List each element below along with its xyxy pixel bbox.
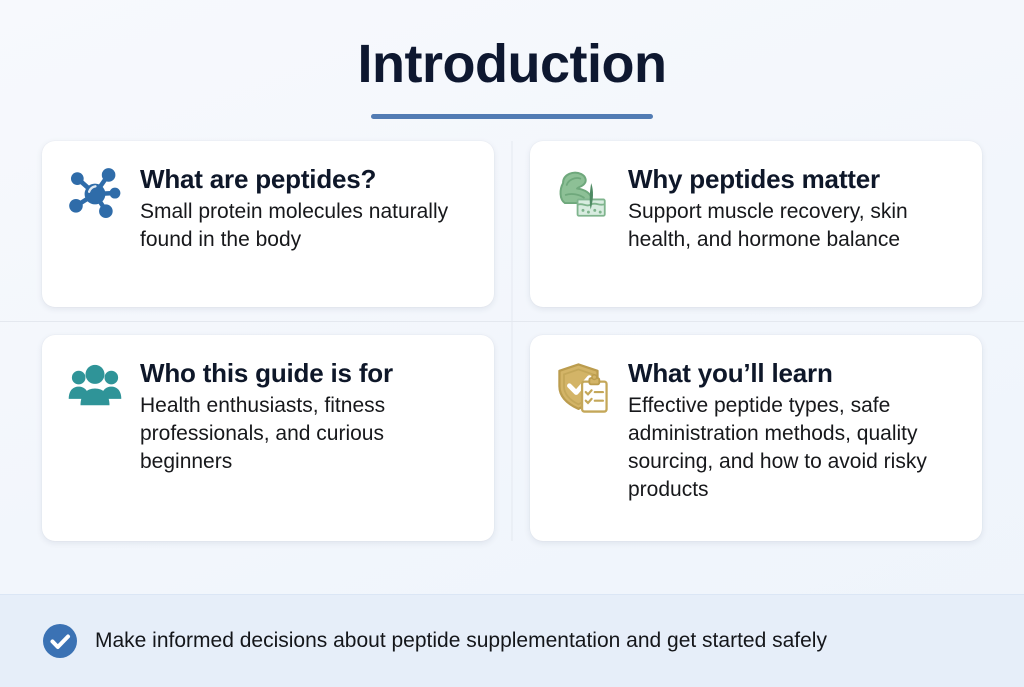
footer-text: Make informed decisions about peptide su… [95,627,827,654]
card-what-youll-learn[interactable]: What you’ll learn Effective peptide type… [530,335,982,541]
cards-section: What are peptides? Small protein molecul… [0,119,1024,594]
card-text: Support muscle recovery, skin health, an… [628,198,962,254]
card-text: Small protein molecules naturally found … [140,198,474,254]
card-title: What you’ll learn [628,358,962,389]
header: Introduction [0,0,1024,119]
check-circle-icon [42,623,78,659]
grid-divider-vertical [512,141,513,541]
card-body: What are peptides? Small protein molecul… [140,163,474,255]
card-title: Why peptides matter [628,164,962,195]
card-body: Why peptides matter Support muscle recov… [628,163,962,255]
people-group-icon [64,359,126,421]
card-why-peptides-matter[interactable]: Why peptides matter Support muscle recov… [530,141,982,307]
card-text: Health enthusiasts, fitness professional… [140,392,474,476]
footer-banner: Make informed decisions about peptide su… [0,594,1024,687]
card-title: What are peptides? [140,164,474,195]
slide-root: Introduction [0,0,1024,687]
grid-divider-horizontal [0,321,1024,322]
card-title: Who this guide is for [140,358,474,389]
flexed-bicep-skin-icon [552,165,614,227]
card-who-this-guide-is-for[interactable]: Who this guide is for Health enthusiasts… [42,335,494,541]
page-title: Introduction [0,36,1024,93]
card-what-are-peptides[interactable]: What are peptides? Small protein molecul… [42,141,494,307]
shield-checklist-icon [552,359,614,421]
molecule-icon [64,165,126,227]
cards-grid: What are peptides? Small protein molecul… [42,141,982,541]
card-body: Who this guide is for Health enthusiasts… [140,357,474,476]
card-body: What you’ll learn Effective peptide type… [628,357,962,504]
card-text: Effective peptide types, safe administra… [628,392,962,504]
